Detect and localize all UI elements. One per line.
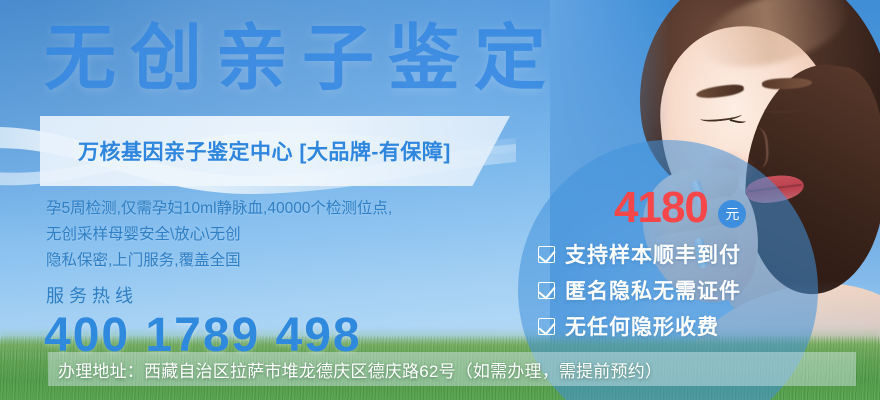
feature-label: 无任何隐形收费 [565,311,719,341]
checkbox-check-icon [538,282,555,299]
price-amount: 4180 [614,186,708,230]
brand-plate: 万核基因亲子鉴定中心 [大品牌-有保障] [40,116,510,186]
feature-label: 匿名隐私无需证件 [565,275,741,305]
feature-item: 支持样本顺丰到付 [538,236,741,272]
copy-line-1: 孕5周检测,仅需孕妇10ml静脉血,40000个检测位点, [46,196,392,222]
price-block: 4180 元 [614,186,746,230]
page-title: 无创亲子鉴定 [44,16,560,102]
checkbox-check-icon [538,318,555,335]
feature-list: 支持样本顺丰到付 匿名隐私无需证件 无任何隐形收费 [538,236,741,344]
feature-item: 匿名隐私无需证件 [538,272,741,308]
feature-item: 无任何隐形收费 [538,308,741,344]
copy-line-3: 隐私保密,上门服务,覆盖全国 [46,248,392,274]
hotline-label: 服务热线 [46,282,138,308]
brand-plate-label: 万核基因亲子鉴定中心 [大品牌-有保障] [78,136,451,166]
benefits-copy: 孕5周检测,仅需孕妇10ml静脉血,40000个检测位点, 无创采样母婴安全\放… [46,196,392,274]
feature-label: 支持样本顺丰到付 [565,239,741,269]
checkbox-check-icon [538,246,555,263]
advertisement-banner: 无创亲子鉴定 万核基因亲子鉴定中心 [大品牌-有保障] 孕5周检测,仅需孕妇10… [0,0,880,400]
address-text: 办理地址：西藏自治区拉萨市堆龙德庆区德庆路62号（如需办理，需提前预约） [48,357,662,382]
currency-badge: 元 [718,200,746,228]
copy-line-2: 无创采样母婴安全\放心\无创 [46,222,392,248]
address-bar: 办理地址：西藏自治区拉萨市堆龙德庆区德庆路62号（如需办理，需提前预约） [48,352,856,386]
